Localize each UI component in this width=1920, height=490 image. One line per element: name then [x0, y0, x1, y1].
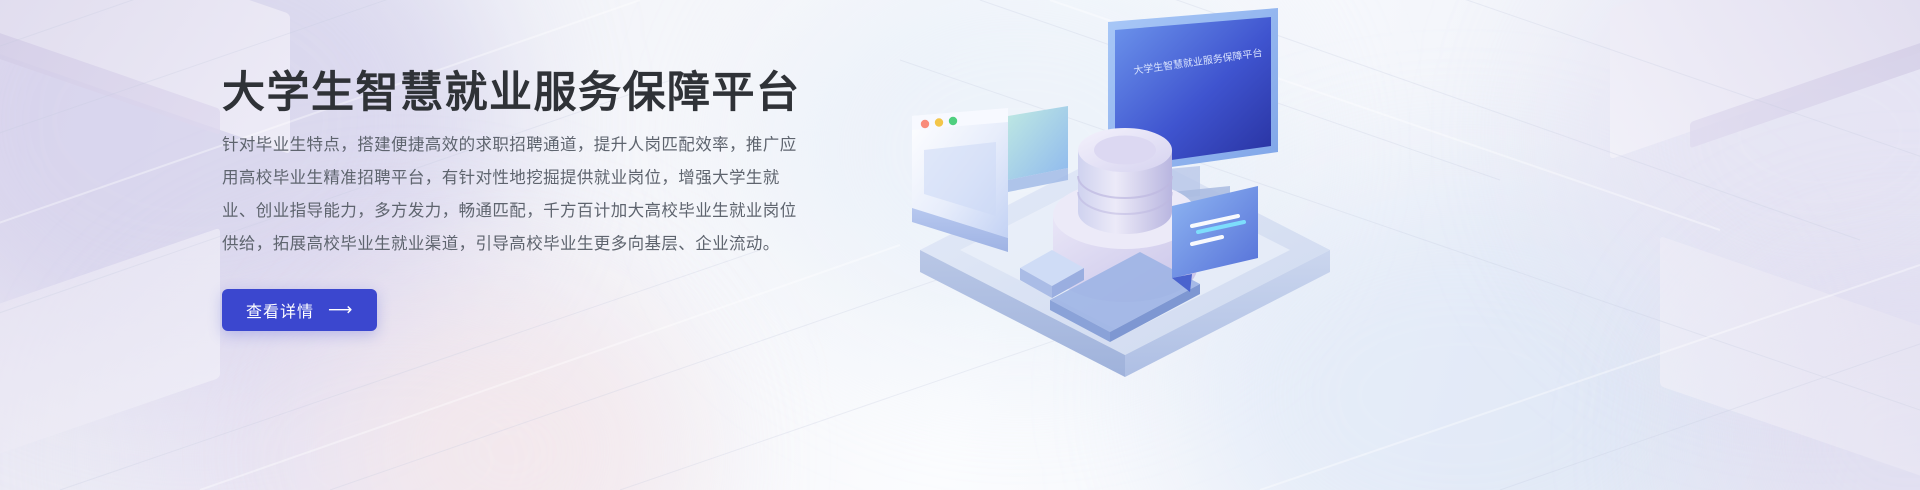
background-bloom: [1700, 260, 1920, 490]
accent-card: [1008, 106, 1068, 192]
isometric-scene: 大学生智慧就业服务保障平台: [900, 0, 1380, 490]
browser-window: [912, 108, 1008, 252]
decor-slab: [1690, 0, 1920, 148]
description-line: 供给，拓展高校毕业生就业渠道，引导高校毕业生更多向基层、企业流动。: [222, 228, 847, 261]
hero-description: 针对毕业生特点，搭建便捷高效的求职招聘通道，提升人岗匹配效率，推广应 用高校毕业…: [222, 129, 847, 261]
description-line: 针对毕业生特点，搭建便捷高效的求职招聘通道，提升人岗匹配效率，推广应: [222, 129, 847, 162]
page-title: 大学生智慧就业服务保障平台: [222, 68, 922, 119]
view-details-button[interactable]: 查看详情 ⟶: [222, 289, 377, 331]
background-bloom: [1560, 0, 1920, 350]
traffic-light-red: [921, 120, 929, 128]
decor-slab: [1660, 236, 1920, 490]
decor-slab: [1610, 0, 1920, 159]
view-details-label: 查看详情: [246, 298, 314, 322]
traffic-light-green: [949, 117, 957, 125]
traffic-light-yellow: [935, 118, 943, 126]
decor-slab: [0, 228, 220, 490]
hero-copy: 大学生智慧就业服务保障平台 针对毕业生特点，搭建便捷高效的求职招聘通道，提升人岗…: [222, 68, 922, 331]
arrow-right-icon: ⟶: [328, 301, 353, 318]
hero-banner: 大学生智慧就业服务保障平台 针对毕业生特点，搭建便捷高效的求职招聘通道，提升人岗…: [0, 0, 1920, 490]
hero-illustration: 大学生智慧就业服务保障平台: [900, 0, 1380, 490]
decor-slab: [0, 0, 220, 135]
description-line: 业、创业指导能力，多方发力，畅通匹配，千方百计加大高校毕业生就业岗位: [222, 195, 847, 228]
description-line: 用高校毕业生精准招聘平台，有针对性地挖掘提供就业岗位，增强大学生就: [222, 162, 847, 195]
